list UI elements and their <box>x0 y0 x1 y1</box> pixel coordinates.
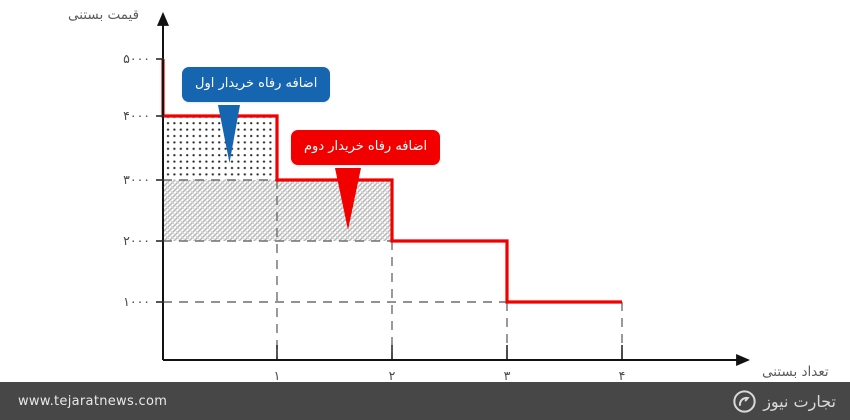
x-tick-label-3: ۳ <box>494 368 520 383</box>
tejaratnews-circle-logo-icon <box>733 390 756 413</box>
x-axis-title: تعداد بستنی <box>762 364 829 380</box>
callout-buyer-two-pointer <box>333 168 363 230</box>
y-tick-label-4000: ۴۰۰۰ <box>104 108 150 123</box>
site-logo-text: تجارت نیوز <box>763 392 836 411</box>
chart-figure: قیمت بستنی تعداد بستنی ۵۰۰۰ ۴۰۰۰ ۳۰۰۰ ۲۰… <box>0 0 850 420</box>
site-logo: تجارت نیوز <box>733 390 836 413</box>
x-tick-label-2: ۲ <box>379 368 405 383</box>
callout-buyer-one-pointer <box>216 105 242 163</box>
callout-buyer-one: اضافه رفاه خریدار اول <box>182 67 330 102</box>
y-tick-label-3000: ۳۰۰۰ <box>104 172 150 187</box>
x-tick-label-1: ۱ <box>264 368 290 383</box>
y-tick-label-2000: ۲۰۰۰ <box>104 233 150 248</box>
chart-plot-area: قیمت بستنی تعداد بستنی ۵۰۰۰ ۴۰۰۰ ۳۰۰۰ ۲۰… <box>0 0 850 382</box>
footer-bar: www.tejaratnews.com تجارت نیوز <box>0 382 850 420</box>
x-axis-ticks <box>277 345 622 359</box>
y-tick-label-5000: ۵۰۰۰ <box>104 51 150 66</box>
y-tick-label-1000: ۱۰۰۰ <box>104 294 150 309</box>
callout-buyer-two: اضافه رفاه خریدار دوم <box>291 130 440 165</box>
footer-website-url: www.tejaratnews.com <box>18 394 167 409</box>
x-tick-label-4: ۴ <box>609 368 635 383</box>
y-axis-title: قیمت بستنی <box>68 7 139 23</box>
